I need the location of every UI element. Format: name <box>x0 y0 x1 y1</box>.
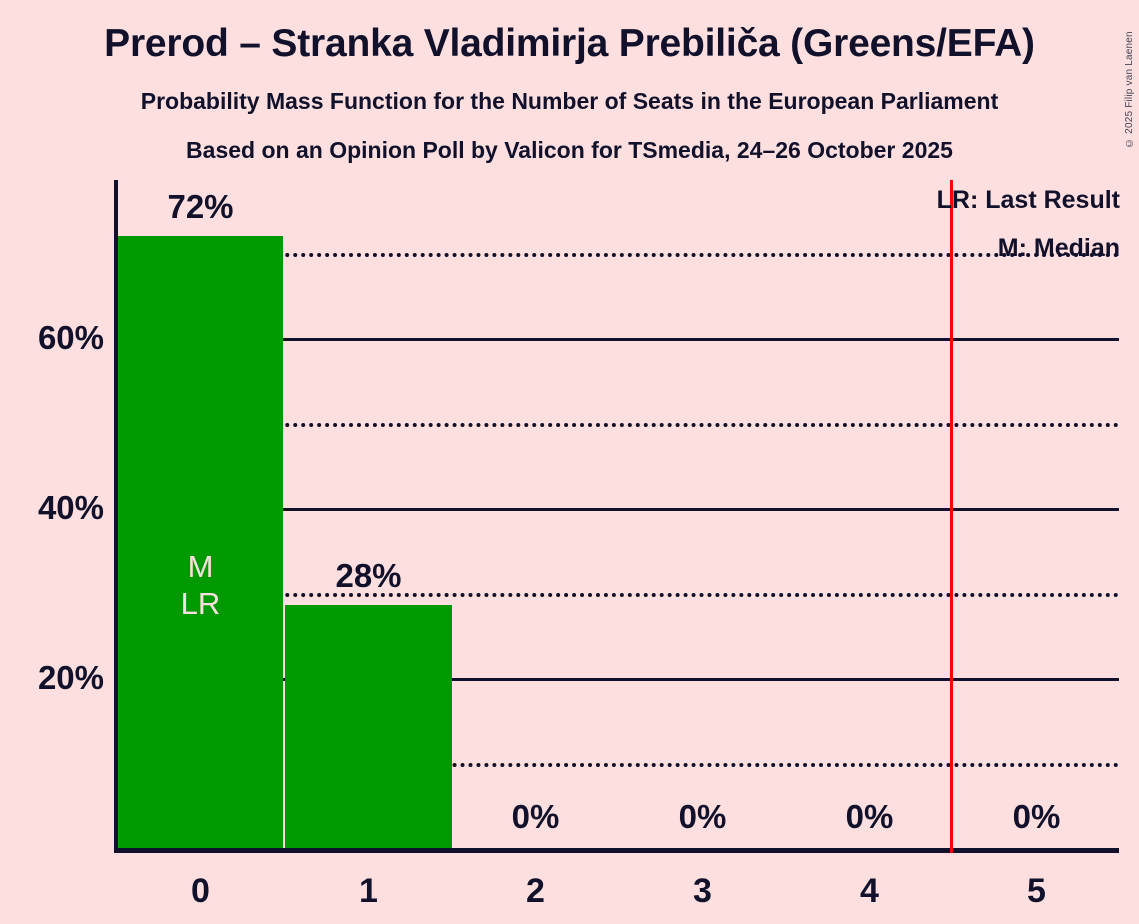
legend-last-result: LR: Last Result <box>937 186 1120 215</box>
bar-value-label-2: 0% <box>452 798 619 836</box>
bar-seat-1[interactable] <box>285 605 452 848</box>
bar-value-label-0: 72% <box>118 188 283 226</box>
plot-area: M LR <box>118 180 1119 848</box>
bar-value-label-3: 0% <box>619 798 786 836</box>
y-tick-label-40: 40% <box>0 489 104 527</box>
median-marker-label: M <box>118 548 283 585</box>
last-result-marker-label: LR <box>118 585 283 622</box>
bar-value-label-1: 28% <box>285 557 452 595</box>
chart-subtitle: Probability Mass Function for the Number… <box>0 88 1139 115</box>
x-tick-label-3: 3 <box>619 872 786 911</box>
bar-seat-0[interactable]: M LR <box>118 236 283 848</box>
legend-median: M: Median <box>998 234 1120 263</box>
chart-source-line: Based on an Opinion Poll by Valicon for … <box>0 137 1139 164</box>
copyright-notice: © 2025 Filip van Laenen <box>1124 8 1138 148</box>
x-tick-label-1: 1 <box>285 872 452 911</box>
chart-root: Prerod – Stranka Vladimirja Prebiliča (G… <box>0 0 1139 924</box>
bar-value-label-5: 0% <box>953 798 1120 836</box>
x-tick-label-4: 4 <box>786 872 953 911</box>
last-result-line <box>950 180 953 853</box>
y-tick-label-60: 60% <box>0 319 104 357</box>
x-tick-label-5: 5 <box>953 872 1120 911</box>
x-axis <box>114 848 1119 853</box>
x-tick-label-0: 0 <box>118 872 283 911</box>
x-tick-label-2: 2 <box>452 872 619 911</box>
bar-value-label-4: 0% <box>786 798 953 836</box>
page-title: Prerod – Stranka Vladimirja Prebiliča (G… <box>0 22 1139 66</box>
y-tick-label-20: 20% <box>0 659 104 697</box>
